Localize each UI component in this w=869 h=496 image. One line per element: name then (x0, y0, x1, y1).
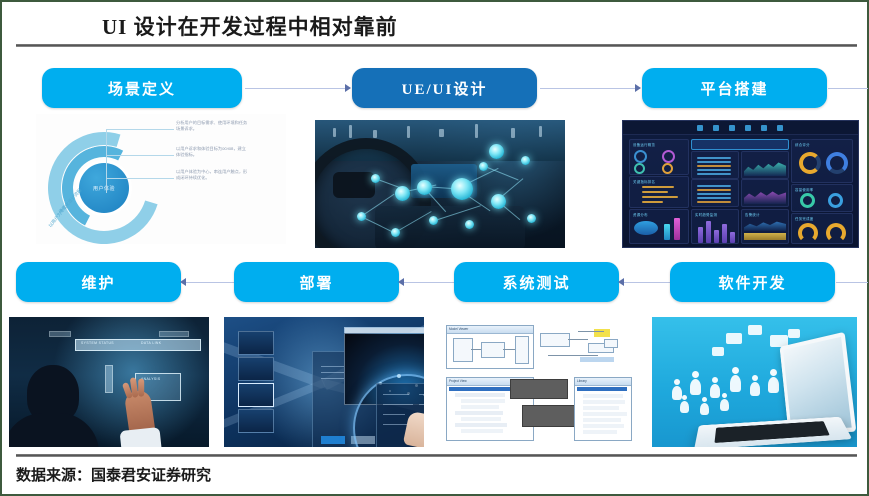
city-light (333, 128, 336, 137)
flow-box-label: 软件开发 (718, 272, 786, 293)
title-divider (16, 44, 857, 47)
panel-title: 资源分布 (633, 212, 648, 217)
donut-annotation-2: 以用户诉求和体验目标为основ，建立体验指标。 (176, 146, 248, 158)
connector-scenario-to-ueui (245, 88, 350, 89)
illustration-software-testing-windows: Model Viewer Project View (434, 317, 634, 447)
person-icon (730, 375, 741, 392)
table-row (697, 201, 731, 203)
diagram-edge (503, 349, 515, 350)
diagram-edge (578, 331, 604, 332)
dashboard-chart-icon (713, 125, 719, 131)
tree-row[interactable] (455, 423, 507, 427)
ring-gauge (828, 193, 843, 208)
city-light (407, 126, 410, 138)
diagram-node (604, 339, 618, 348)
dashboard-home-icon (697, 125, 703, 131)
os-thumbnail[interactable] (238, 331, 274, 355)
tree-row[interactable] (583, 406, 619, 410)
flow-box-software-development[interactable]: 软件开发 (670, 262, 835, 302)
dashboard-panel: 设备运行概览 (629, 139, 689, 175)
city-light (349, 125, 352, 138)
dashboard-bar-chart-panel: 实时趋势监测 (691, 209, 739, 244)
tree-row[interactable] (461, 417, 501, 421)
city-light (373, 130, 377, 138)
highlight-row (580, 357, 614, 362)
person-icon (702, 397, 707, 402)
dashboard-headline-banner (691, 139, 789, 150)
network-node-icon (479, 162, 488, 171)
window-title: Project View (449, 379, 467, 383)
diagram-node (515, 336, 529, 364)
network-node-icon (465, 220, 474, 229)
dashboard-panel: 资源分布 (629, 209, 689, 244)
person-icon (720, 399, 729, 411)
rank-bar (642, 191, 668, 193)
dashboard-panel: 综合评分 (791, 139, 853, 183)
network-node-lock-icon (429, 216, 438, 225)
os-thumbnail[interactable] (238, 357, 274, 381)
tree-row[interactable] (583, 418, 621, 422)
diagram-edge (568, 339, 588, 340)
network-node-refresh-icon (491, 194, 506, 209)
city-light (475, 124, 478, 138)
pie-chart (634, 221, 658, 235)
person-sleeve (120, 427, 163, 447)
table-row (697, 173, 731, 175)
network-node-icon (489, 144, 504, 159)
table-row (697, 161, 731, 163)
flow-box-label: 部署 (299, 272, 333, 293)
ring-gauge (662, 163, 673, 174)
ring-gauge (800, 193, 815, 208)
dashboard-area-chart-panel (741, 151, 789, 179)
os-menu-line (419, 394, 424, 395)
person-icon (712, 377, 718, 383)
dashboard-panel: 关键指标排名 (629, 176, 689, 208)
tree-row[interactable] (583, 424, 624, 428)
network-node-icon (391, 228, 400, 237)
person-icon (770, 369, 777, 376)
tree-row[interactable] (461, 405, 499, 409)
ring-gauge (634, 163, 645, 174)
tree-row[interactable] (583, 400, 625, 404)
city-light (439, 129, 444, 137)
donut-gauge (799, 152, 821, 174)
dashboard-grid-icon (729, 125, 735, 131)
panel-title: 告警统计 (745, 212, 760, 217)
person-icon (700, 403, 709, 415)
city-light (539, 126, 542, 137)
hud-tick (49, 331, 71, 337)
bar (664, 224, 670, 240)
diagram-edge (548, 355, 598, 356)
connector-ueui-to-platform (540, 88, 640, 89)
donut-annotation-3: 以用户体验为中心，串连用户触点，形成闭环持续优化。 (176, 169, 248, 181)
test-window[interactable]: Library (574, 377, 632, 441)
flow-box-scenario-definition[interactable]: 场景定义 (42, 68, 242, 108)
tree-row[interactable] (461, 429, 503, 433)
donut-lead-line-2 (106, 155, 174, 156)
rank-bar (642, 196, 678, 198)
person-icon (732, 367, 739, 374)
hud-tick (159, 331, 189, 337)
ring-gauge (662, 150, 675, 163)
car-steering-hub (333, 172, 375, 198)
footer-divider (16, 454, 857, 457)
person-icon (674, 379, 680, 385)
illustration-connected-car-network (315, 120, 565, 248)
bar-series (744, 233, 786, 240)
network-node-wifi-icon (417, 180, 432, 195)
laptop-base (694, 417, 852, 447)
table-row (697, 193, 731, 195)
network-node-icon (357, 212, 366, 221)
hud-slider (105, 365, 113, 393)
city-light (511, 128, 515, 138)
flow-box-label: 平台搭建 (700, 78, 768, 99)
bar (674, 218, 680, 240)
laptop-keyboard (714, 421, 829, 443)
diagram-node (540, 333, 570, 347)
donut-core: 用户体验 (79, 163, 129, 213)
donut-core-label: 用户体验 (93, 185, 115, 192)
flow-box-ue-ui-design[interactable]: UE/UI设计 (352, 68, 537, 108)
dashboard-area-chart-panel (741, 179, 789, 207)
dashboard-mixed-chart-panel: 告警统计 (741, 209, 789, 244)
connector-test-to-deploy (404, 282, 454, 283)
dashboard-clock-icon (745, 125, 751, 131)
flow-box-label: UE/UI设计 (402, 78, 488, 99)
donut-annotation-1: 分析用户的目标需求、使用环境和任务场景诉求。 (176, 120, 248, 132)
ring-gauge (634, 150, 647, 163)
person-icon (680, 401, 689, 413)
connector-dev-to-test (624, 282, 670, 283)
os-primary-button[interactable] (321, 436, 345, 444)
dashboard-panel: 任务完成度 (791, 213, 853, 244)
person-icon (692, 371, 699, 378)
table-row (697, 189, 731, 191)
network-link (485, 166, 519, 180)
tree-row[interactable] (455, 411, 503, 415)
table-row (697, 197, 731, 199)
diagram-node (481, 342, 505, 358)
flow-box-label: 维护 (81, 272, 115, 293)
tree-row[interactable] (583, 394, 623, 398)
table-row (697, 169, 731, 171)
chat-bubble (748, 325, 762, 335)
flow-box-label: 系统测试 (502, 272, 570, 293)
dashboard-gear-icon (777, 125, 783, 131)
flow-box-label: 场景定义 (108, 78, 176, 99)
os-thumbnail[interactable] (238, 409, 274, 433)
connector-deploy-to-maintenance (186, 282, 234, 283)
chat-bubble (788, 329, 800, 338)
panel-title: 容量使用率 (795, 187, 813, 192)
hud-label: DATA LINK (141, 341, 161, 345)
panel-title: 实时趋势监测 (695, 212, 717, 217)
window-titlebar: Library (575, 378, 631, 386)
connector-wrap-into-dev (836, 282, 868, 283)
page-title: UI 设计在开发过程中相对靠前 (102, 11, 398, 41)
bar (722, 224, 727, 243)
bar (698, 227, 703, 243)
flow-box-deployment[interactable]: 部署 (234, 262, 399, 302)
dashboard-table-panel (691, 179, 739, 207)
window-title: Library (577, 379, 587, 383)
area-series (744, 160, 786, 176)
title-bar: UI 设计在开发过程中相对靠前 (2, 2, 867, 46)
donut-lead-line-1 (106, 129, 174, 130)
os-thumbnail-selected[interactable] (238, 383, 274, 407)
network-node-icon (395, 186, 410, 201)
network-node-central-icon (451, 178, 473, 200)
connector-platform-to-next (828, 88, 868, 89)
tree-row[interactable] (583, 430, 617, 434)
dashboard-user-icon (761, 125, 767, 131)
person-icon (750, 382, 760, 396)
person-shoulder-silhouette (9, 413, 99, 447)
network-node-icon (371, 174, 380, 183)
rank-bar (642, 201, 663, 203)
os-menu-line (383, 404, 413, 405)
window-titlebar: Model Viewer (447, 326, 533, 334)
flow-box-maintenance[interactable]: 维护 (16, 262, 181, 302)
arrow-head-icon (345, 84, 351, 92)
os-menu-line (383, 414, 405, 415)
tree-row[interactable] (455, 393, 505, 397)
illustration-data-dashboard: 设备运行概览 关键指标排名 资源分布 (622, 120, 859, 248)
table-row (697, 165, 731, 167)
person-icon (752, 375, 758, 381)
chat-bubble (726, 333, 742, 344)
illustration-ux-donut-diagram: 用户体验 场景化设计流程 以用户为中心 分析用户的目标需求、使用环境和任务场景诉… (36, 114, 286, 244)
dashboard-table-panel (691, 151, 739, 179)
bar (730, 232, 735, 243)
donut-lead-spine (106, 129, 107, 193)
tree-row[interactable] (583, 412, 627, 416)
diagram-node (453, 338, 473, 362)
panel-title: 设备运行概览 (633, 142, 655, 147)
os-menu-line (383, 394, 409, 395)
network-node-icon (527, 214, 536, 223)
arc-gauge (826, 223, 846, 243)
flow-box-platform-build[interactable]: 平台搭建 (642, 68, 827, 108)
tooltip-popup (510, 379, 568, 399)
data-source-note: 数据来源：国泰君安证券研究 (16, 464, 211, 485)
test-window[interactable]: Model Viewer (446, 325, 534, 369)
test-flow-diagram (538, 325, 622, 367)
panel-title: 综合评分 (795, 142, 810, 147)
person-icon (710, 384, 720, 398)
arrow-head-icon (635, 84, 641, 92)
arc-gauge (798, 223, 818, 243)
person-icon (690, 379, 701, 395)
person-icon (768, 377, 779, 393)
area-series (744, 219, 786, 231)
area-series (744, 188, 786, 204)
os-thumbnail-strip[interactable] (238, 331, 272, 441)
tree-row-selected[interactable] (577, 387, 627, 391)
dashboard-panel: 容量使用率 (791, 184, 853, 212)
rank-bar (642, 186, 674, 188)
table-row (697, 157, 731, 159)
flow-box-system-testing[interactable]: 系统测试 (454, 262, 619, 302)
chat-bubble (712, 347, 724, 356)
tree-row[interactable] (461, 399, 505, 403)
panel-title: 任务完成度 (795, 216, 813, 221)
os-menu-line (419, 404, 424, 405)
bar (714, 230, 719, 243)
finger (138, 379, 144, 397)
person-icon (672, 386, 682, 400)
donut-gauge (826, 152, 848, 174)
network-node-icon (521, 156, 530, 165)
panel-title: 关键指标排名 (633, 179, 655, 184)
person-icon (682, 395, 687, 400)
donut-lead-line-3 (106, 178, 174, 179)
illustration-futuristic-desktop-ui (224, 317, 424, 447)
illustration-laptop-social-network (652, 317, 857, 447)
diagram-edge (471, 349, 481, 350)
illustration-holographic-interface: SYSTEM STATUS DATA LINK ANALYSIS (9, 317, 209, 447)
bar (706, 221, 711, 243)
person-icon (722, 393, 727, 398)
hud-label: SYSTEM STATUS (81, 341, 114, 345)
particle (397, 374, 401, 378)
window-title: Model Viewer (449, 327, 468, 331)
dashboard-topbar (623, 121, 858, 135)
table-row (697, 185, 731, 187)
car-center-console (375, 206, 525, 248)
slide-page: UI 设计在开发过程中相对靠前 场景定义 UE/UI设计 平台搭建 用户体验 场… (0, 0, 869, 496)
